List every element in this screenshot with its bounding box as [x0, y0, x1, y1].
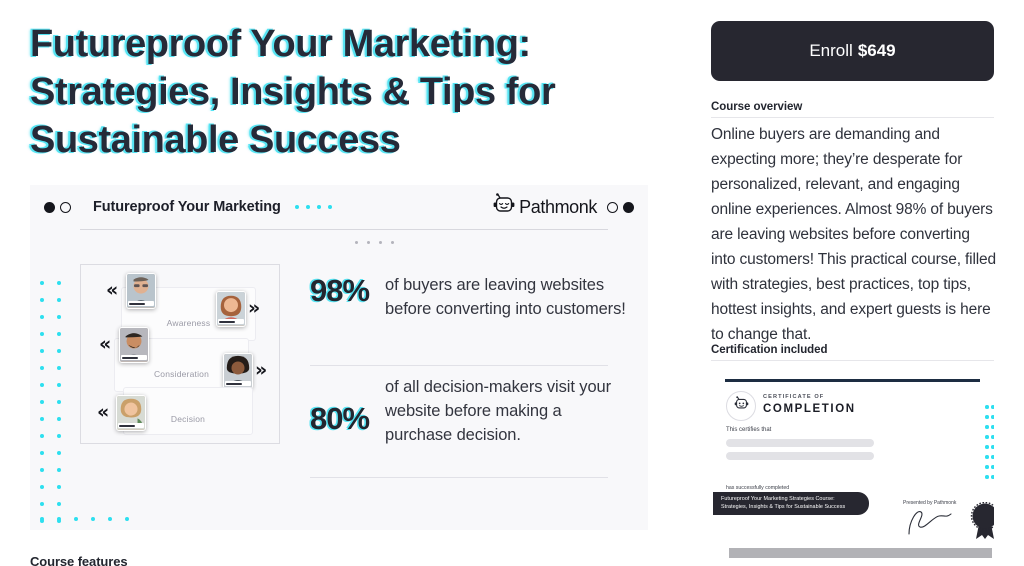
- certificate-preview[interactable]: CERTIFICATE OF COMPLETION This certifies…: [711, 365, 994, 566]
- course-features-heading: Course features: [30, 554, 127, 566]
- stat-text: of all decision-makers visit your websit…: [385, 375, 620, 447]
- progress-dot: [379, 241, 382, 244]
- robot-icon: [733, 396, 750, 417]
- accent-dot: [40, 298, 44, 302]
- accent-dot: [985, 465, 989, 469]
- course-overview-body: Online buyers are demanding and expectin…: [711, 122, 996, 347]
- slide-progress-dots: [355, 241, 394, 244]
- accent-dot: [40, 366, 44, 370]
- accent-dot: [40, 517, 44, 521]
- accent-dot: [985, 455, 989, 459]
- certificate-footer-bar: [729, 548, 992, 558]
- enroll-price: $649: [858, 41, 896, 61]
- accent-dot: [125, 517, 129, 521]
- accent-dot: [985, 475, 989, 479]
- nav-dot-filled-icon: [44, 202, 55, 213]
- accent-dot: [57, 383, 61, 387]
- avatar-caption-bar: [128, 301, 154, 306]
- stat-divider: [310, 365, 608, 366]
- accent-dot: [91, 517, 95, 521]
- avatar-caption-bar: [225, 381, 251, 386]
- accent-dot: [991, 445, 994, 449]
- slide-header: Futureproof Your Marketing: [30, 185, 648, 229]
- nav-dot-hollow-icon: [60, 202, 71, 213]
- accent-dot: [991, 465, 994, 469]
- chevron-left-icon: «: [97, 403, 109, 422]
- accent-dot: [40, 400, 44, 404]
- certificate-name-placeholder: [726, 452, 874, 460]
- brand-name: Pathmonk: [519, 197, 597, 218]
- stat-value: 80%: [310, 401, 369, 437]
- brand-logo: Pathmonk: [491, 193, 597, 222]
- stat-value: 98%: [310, 273, 369, 309]
- accent-dot: [985, 425, 989, 429]
- certification-included-heading: Certification included: [711, 344, 994, 361]
- decorative-dot-grid-left: [40, 281, 72, 530]
- course-preview-slide[interactable]: Futureproof Your Marketing: [30, 185, 648, 530]
- robot-icon: [491, 193, 517, 222]
- slide-nav-dots-right: [607, 202, 634, 213]
- page-title: Futureproof Your Marketing: Strategies, …: [30, 20, 650, 164]
- avatar-caption-bar: [118, 423, 144, 428]
- accent-dot: [40, 451, 44, 455]
- certificate-kicker: CERTIFICATE OF: [763, 394, 824, 400]
- accent-dot: [991, 455, 994, 459]
- accent-dot: [57, 517, 61, 521]
- avatar: [216, 291, 246, 327]
- course-landing-page: Futureproof Your Marketing: Strategies, …: [0, 0, 1024, 566]
- slide-title: Futureproof Your Marketing: [93, 199, 281, 215]
- sidebar: Enroll $649 Course overview Online buyer…: [700, 0, 1024, 566]
- enroll-label: Enroll: [809, 41, 852, 61]
- accent-dot: [985, 435, 989, 439]
- certificate-name-placeholder: [726, 439, 874, 447]
- slide-accent-dots: [295, 205, 332, 209]
- certificate-top-rule: [725, 379, 980, 382]
- accent-dot: [991, 415, 994, 419]
- stat-item: 98% of buyers are leaving websites befor…: [310, 273, 648, 321]
- avatar: [119, 327, 149, 363]
- accent-dot: [57, 400, 61, 404]
- accent-dot: [57, 315, 61, 319]
- accent-dot: [57, 485, 61, 489]
- accent-dot: [991, 475, 994, 479]
- avatar-caption-bar: [121, 355, 147, 360]
- accent-dot: [74, 517, 78, 521]
- enroll-button[interactable]: Enroll $649: [711, 21, 994, 81]
- accent-dot: [57, 417, 61, 421]
- certificate-robot-badge: [726, 391, 756, 421]
- course-overview-heading: Course overview: [711, 101, 994, 118]
- slide-nav-dots-left: [44, 202, 71, 213]
- signature-icon: [906, 507, 956, 537]
- accent-dot: [328, 205, 332, 209]
- accent-dot: [40, 349, 44, 353]
- accent-dot: [985, 445, 989, 449]
- accent-dot: [991, 435, 994, 439]
- slide-divider: [80, 229, 608, 230]
- stat-item: 80% of all decision-makers visit your we…: [310, 375, 620, 447]
- accent-dot: [57, 434, 61, 438]
- accent-dot: [57, 332, 61, 336]
- progress-dot: [355, 241, 358, 244]
- avatar: [126, 273, 156, 309]
- progress-dot: [391, 241, 394, 244]
- accent-dot: [57, 468, 61, 472]
- chevron-left-icon: «: [106, 281, 118, 300]
- accent-dot: [40, 383, 44, 387]
- accent-dot: [40, 417, 44, 421]
- accent-dot: [40, 502, 44, 506]
- stat-text: of buyers are leaving websites before co…: [385, 273, 648, 321]
- accent-dot: [57, 298, 61, 302]
- accent-dot: [306, 205, 310, 209]
- accent-dot: [295, 205, 299, 209]
- certificate-heading: COMPLETION: [763, 403, 856, 415]
- accent-dot: [985, 415, 989, 419]
- accent-dot: [108, 517, 112, 521]
- certificate-course-name: Futureproof Your Marketing Strategies Co…: [713, 492, 869, 515]
- accent-dot: [57, 502, 61, 506]
- chevron-left-icon: «: [99, 335, 111, 354]
- chevron-right-icon: »: [248, 299, 260, 318]
- accent-dot: [40, 468, 44, 472]
- accent-dot: [57, 366, 61, 370]
- certificate-certifies-text: This certifies that: [726, 427, 771, 433]
- accent-dot: [985, 405, 989, 409]
- nav-dot-filled-icon: [623, 202, 634, 213]
- accent-dot: [991, 425, 994, 429]
- accent-dot: [57, 349, 61, 353]
- chevron-right-icon: »: [255, 361, 267, 380]
- progress-dot: [367, 241, 370, 244]
- avatar: [116, 395, 146, 431]
- nav-dot-hollow-icon: [607, 202, 618, 213]
- accent-dot: [40, 315, 44, 319]
- accent-dot: [57, 281, 61, 285]
- certificate-completed-text: has successfully completed: [726, 485, 789, 491]
- left-content-column: Futureproof Your Marketing: Strategies, …: [0, 0, 700, 566]
- accent-dot: [317, 205, 321, 209]
- stat-divider: [310, 477, 608, 478]
- avatar-caption-bar: [218, 319, 244, 324]
- accent-dot: [40, 281, 44, 285]
- accent-dot: [40, 332, 44, 336]
- avatar: [223, 353, 253, 389]
- accent-dot: [40, 485, 44, 489]
- funnel-diagram: Awareness: [80, 264, 280, 444]
- decorative-dot-grid-bottom: [40, 517, 170, 530]
- accent-dot: [40, 434, 44, 438]
- certificate-presented-by: Presented by Pathmonk: [903, 500, 956, 506]
- award-seal-icon: [969, 502, 994, 540]
- accent-dot: [57, 451, 61, 455]
- accent-dot: [991, 405, 994, 409]
